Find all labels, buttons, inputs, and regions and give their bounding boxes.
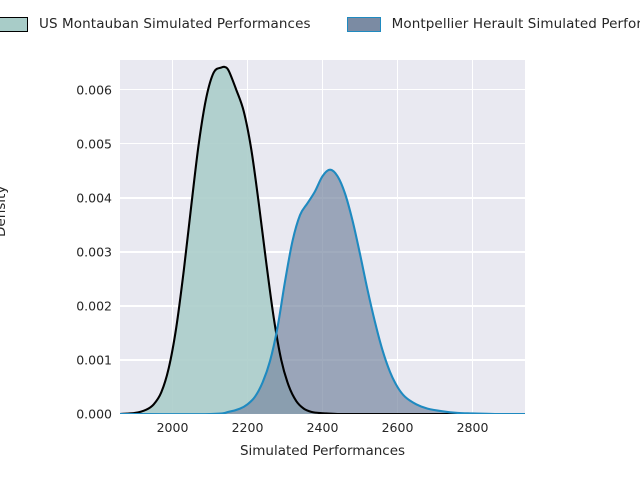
y-tick-label: 0.005: [42, 136, 112, 151]
y-tick-label: 0.006: [42, 82, 112, 97]
x-axis-title: Simulated Performances: [120, 443, 525, 459]
y-tick-label: 0.002: [42, 298, 112, 313]
y-axis-title: Density: [0, 186, 9, 237]
legend-swatch-icon: [347, 17, 381, 32]
chart-legend: US Montauban Simulated Performances Mont…: [0, 13, 640, 35]
density-curves: [120, 60, 525, 414]
legend-entry-us-montauban[interactable]: US Montauban Simulated Performances: [0, 16, 311, 32]
y-tick-label: 0.004: [42, 190, 112, 205]
legend-swatch-icon: [0, 17, 28, 32]
plot-area: [120, 60, 525, 414]
x-tick-label: 2200: [208, 420, 288, 435]
y-tick-label: 0.001: [42, 352, 112, 367]
x-tick-label: 2600: [358, 420, 438, 435]
x-tick-label: 2800: [433, 420, 513, 435]
x-tick-label: 2000: [133, 420, 213, 435]
legend-entry-montpellier-herault[interactable]: Montpellier Herault Simulated Performan: [347, 16, 640, 32]
y-tick-label: 0.003: [42, 244, 112, 259]
y-tick-label: 0.000: [42, 407, 112, 422]
x-tick-label: 2400: [283, 420, 363, 435]
legend-label: US Montauban Simulated Performances: [39, 16, 311, 32]
figure-canvas: US Montauban Simulated Performances Mont…: [0, 0, 640, 480]
legend-label: Montpellier Herault Simulated Performan: [392, 16, 640, 32]
